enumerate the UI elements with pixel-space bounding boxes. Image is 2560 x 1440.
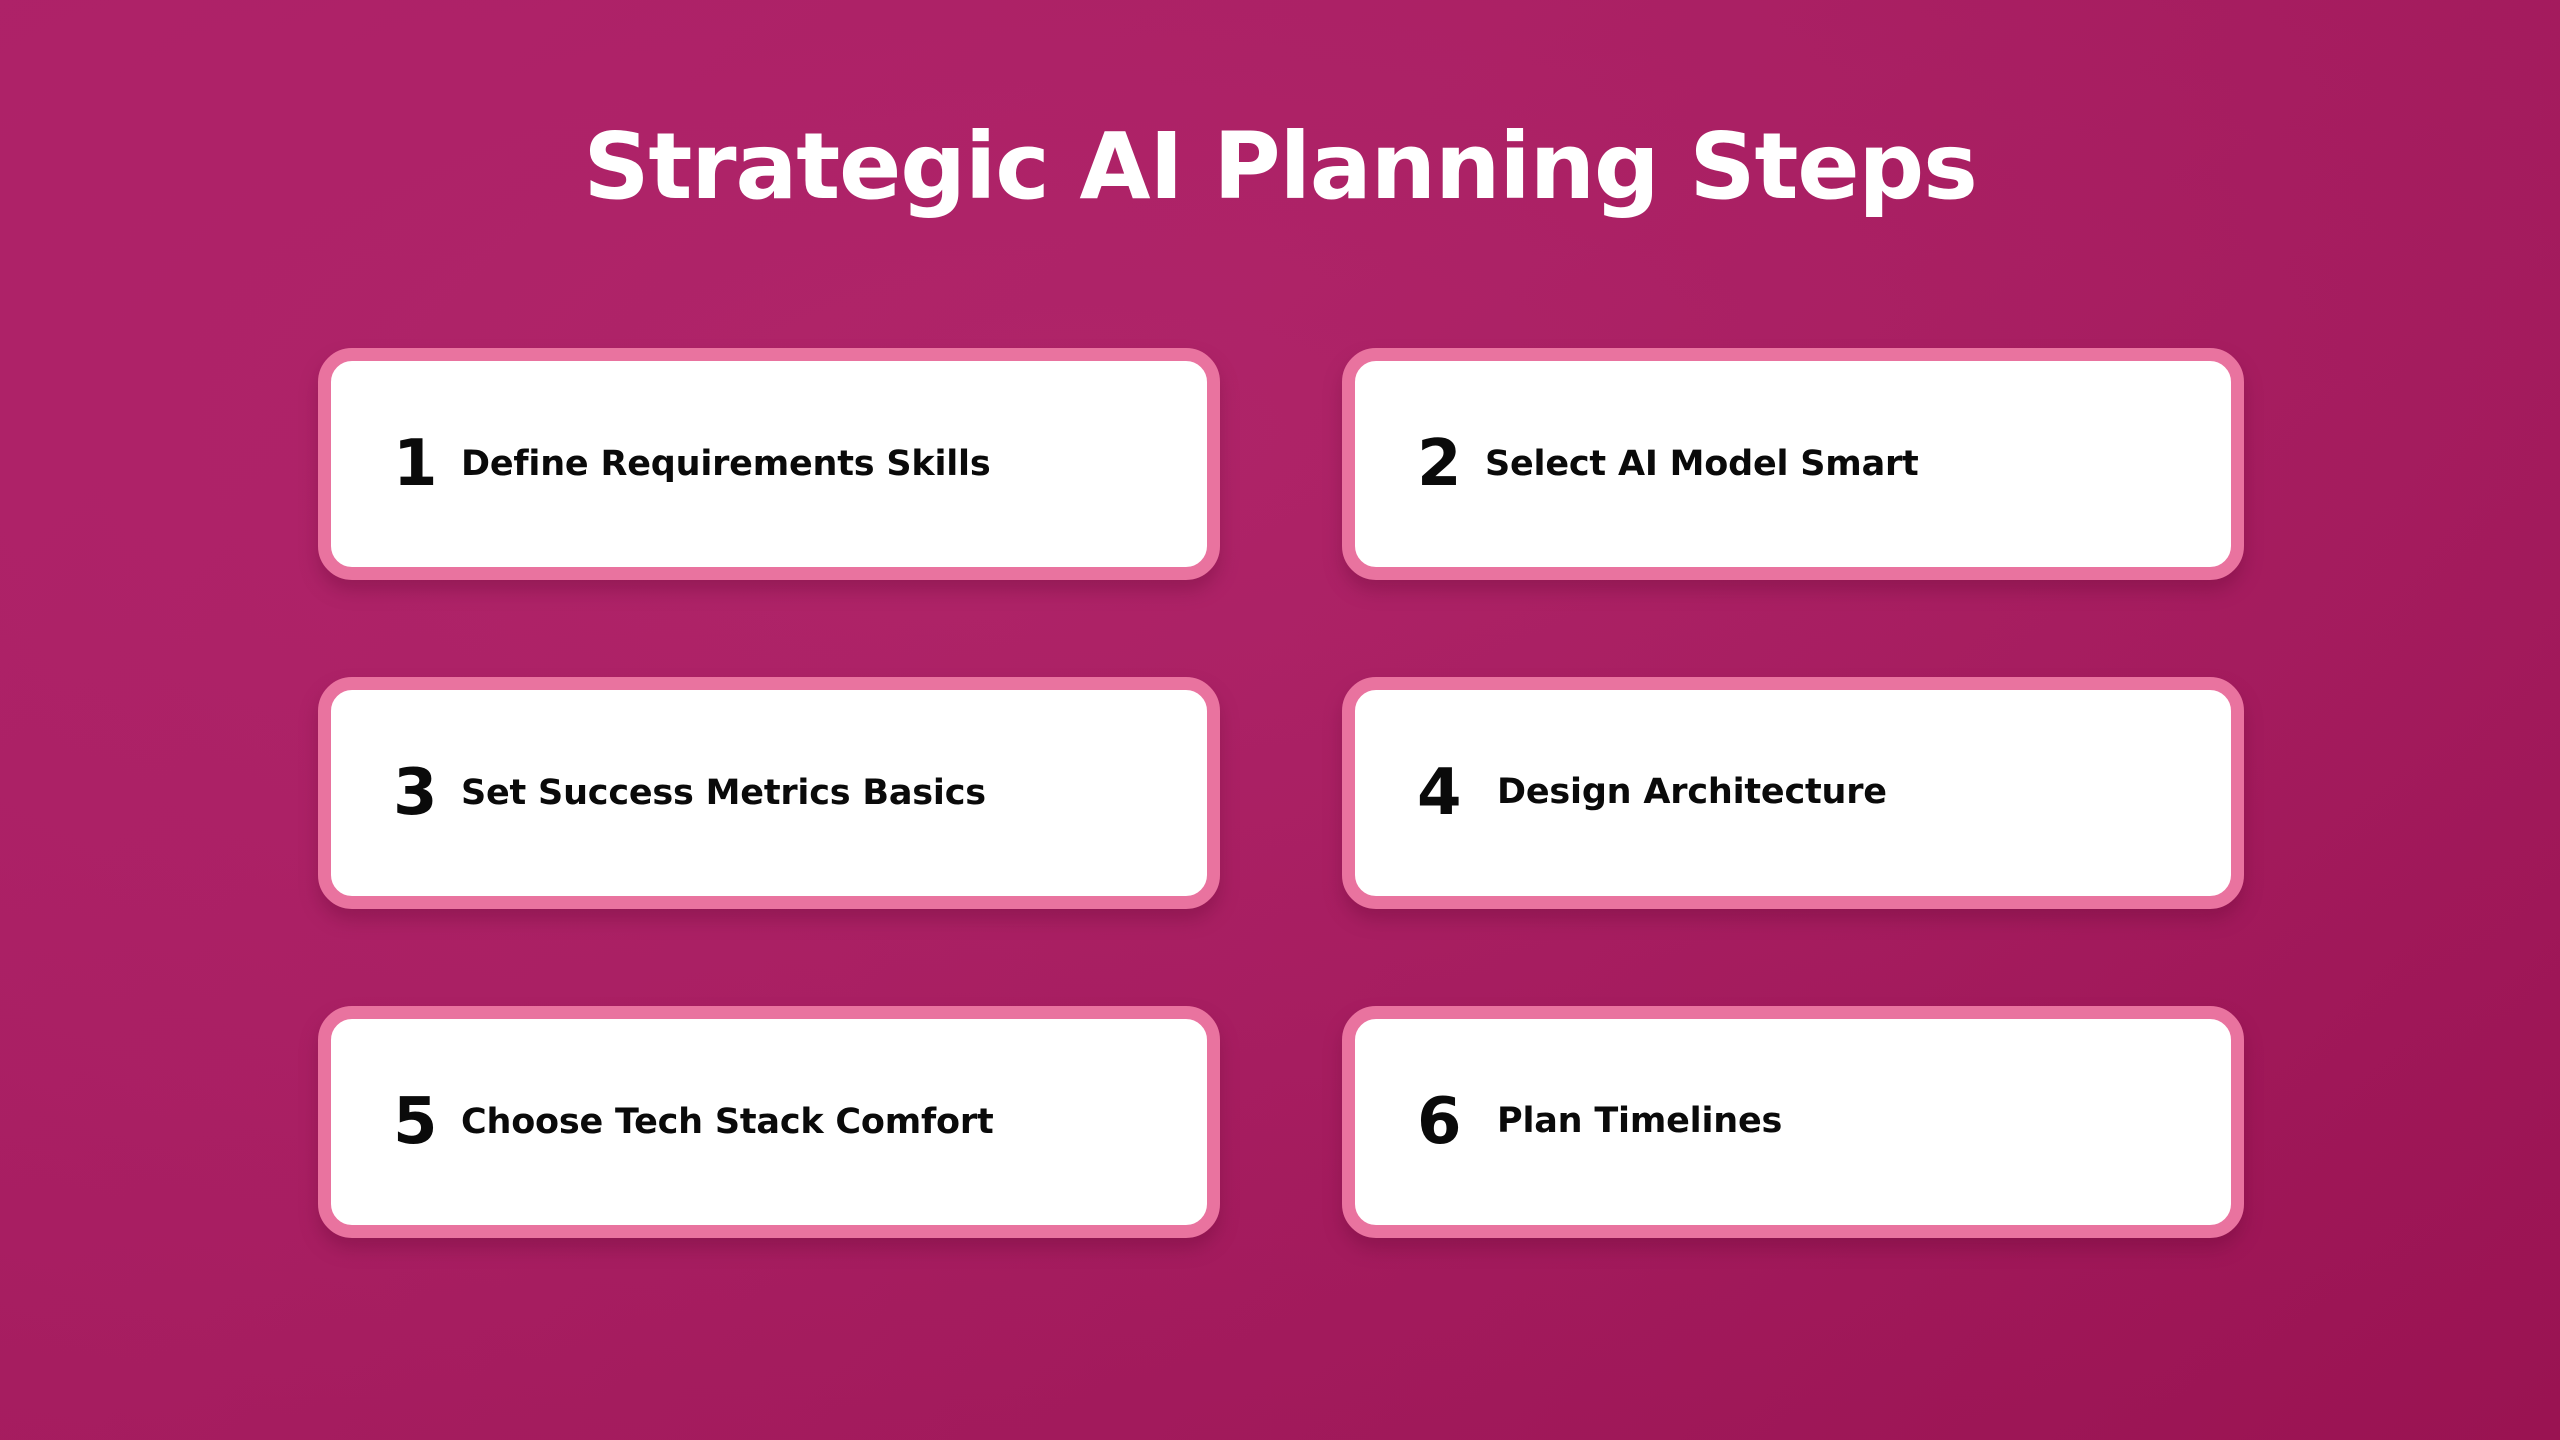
step-card-5[interactable]: 5 Choose Tech Stack Comfort bbox=[318, 1006, 1220, 1238]
step-number-3: 3 bbox=[393, 761, 461, 825]
step-card-3-content: 3 Set Success Metrics Basics bbox=[393, 761, 1173, 825]
step-card-5-content: 5 Choose Tech Stack Comfort bbox=[393, 1090, 1173, 1154]
step-card-3[interactable]: 3 Set Success Metrics Basics bbox=[318, 677, 1220, 909]
step-number-6: 6 bbox=[1417, 1090, 1497, 1154]
step-card-2-content: 2 Select AI Model Smart bbox=[1417, 432, 2197, 496]
step-number-4: 4 bbox=[1417, 761, 1497, 825]
step-number-2: 2 bbox=[1417, 432, 1485, 496]
page-title: Strategic AI Planning Steps bbox=[0, 118, 2560, 216]
step-card-6[interactable]: 6 Plan Timelines bbox=[1342, 1006, 2244, 1238]
step-card-4-content: 4 Design Architecture bbox=[1417, 761, 2197, 825]
step-number-5: 5 bbox=[393, 1090, 461, 1154]
step-card-1[interactable]: 1 Define Requirements Skills bbox=[318, 348, 1220, 580]
steps-grid: 1 Define Requirements Skills 2 Select AI… bbox=[318, 348, 2244, 1238]
step-card-1-content: 1 Define Requirements Skills bbox=[393, 432, 1173, 496]
slide-canvas: Strategic AI Planning Steps 1 Define Req… bbox=[0, 0, 2560, 1440]
step-label-5: Choose Tech Stack Comfort bbox=[461, 1094, 994, 1149]
step-card-6-content: 6 Plan Timelines bbox=[1417, 1090, 2197, 1154]
step-label-3: Set Success Metrics Basics bbox=[461, 765, 986, 820]
step-number-1: 1 bbox=[393, 432, 461, 496]
step-label-2: Select AI Model Smart bbox=[1485, 436, 1919, 491]
step-card-2[interactable]: 2 Select AI Model Smart bbox=[1342, 348, 2244, 580]
step-label-1: Define Requirements Skills bbox=[461, 436, 991, 491]
step-label-4: Design Architecture bbox=[1497, 766, 1887, 819]
step-card-4[interactable]: 4 Design Architecture bbox=[1342, 677, 2244, 909]
step-label-6: Plan Timelines bbox=[1497, 1095, 1782, 1148]
